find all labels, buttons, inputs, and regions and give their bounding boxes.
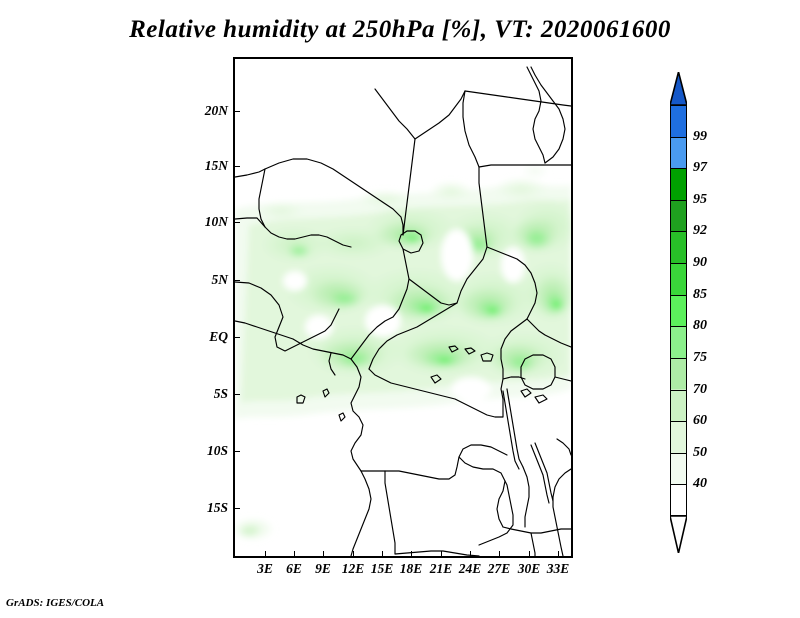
colorbar-band-divider (670, 358, 687, 359)
lon-label-24E: 24E (459, 561, 482, 577)
colorbar-band-divider (670, 390, 687, 391)
lon-label-21E: 21E (430, 561, 453, 577)
colorbar-band (670, 358, 687, 390)
lon-label-15E: 15E (371, 561, 394, 577)
lon-label-18E: 18E (400, 561, 423, 577)
map-canvas (235, 59, 571, 556)
colorbar-band (670, 453, 687, 485)
lon-tick-21E (441, 551, 442, 558)
colorbar-tick-label: 92 (693, 223, 707, 239)
lon-label-30E: 30E (518, 561, 541, 577)
colorbar-band-divider (670, 200, 687, 201)
lat-tick-20N (233, 111, 240, 112)
lat-label-10S: 10S (195, 443, 228, 459)
colorbar-band (670, 137, 687, 169)
colorbar-tick-label: 99 (693, 129, 707, 145)
lat-label-20N: 20N (195, 103, 228, 119)
figure-root: Relative humidity at 250hPa [%], VT: 202… (0, 0, 800, 618)
lat-tick-5S (233, 394, 240, 395)
colorbar-band (670, 168, 687, 200)
colorbar-band (670, 421, 687, 453)
map-clip (235, 59, 571, 556)
lon-tick-30E (529, 551, 530, 558)
lon-label-27E: 27E (488, 561, 511, 577)
colorbar-band-divider (670, 326, 687, 327)
lon-tick-24E (470, 551, 471, 558)
lat-tick-5N (233, 280, 240, 281)
colorbar-tick-label: 80 (693, 318, 707, 334)
colorbar-tick-label: 40 (693, 476, 707, 492)
colorbar-band (670, 484, 687, 516)
lon-label-6E: 6E (286, 561, 302, 577)
lat-label-5N: 5N (195, 272, 228, 288)
lon-tick-12E (353, 551, 354, 558)
lon-tick-15E (382, 551, 383, 558)
lon-label-3E: 3E (257, 561, 273, 577)
over-arrow-shape (670, 72, 687, 105)
colorbar-tick-label: 60 (693, 413, 707, 429)
colorbar-band-divider (670, 421, 687, 422)
colorbar-band-divider (670, 295, 687, 296)
lat-tick-15N (233, 166, 240, 167)
colorbar-band (670, 231, 687, 263)
colorbar-under-arrow (670, 516, 687, 553)
colorbar-tick-label: 75 (693, 350, 707, 366)
colorbar-band (670, 326, 687, 358)
lon-tick-9E (323, 551, 324, 558)
colorbar-tick-label: 70 (693, 382, 707, 398)
lat-tick-EQ (233, 337, 240, 338)
lon-tick-3E (265, 551, 266, 558)
lon-tick-18E (411, 551, 412, 558)
colorbar-band-divider (670, 168, 687, 169)
colorbar-band-divider (670, 263, 687, 264)
colorbar-band (670, 105, 687, 137)
lat-label-EQ: EQ (195, 329, 228, 345)
colorbar-band (670, 295, 687, 327)
map-plot-area (233, 57, 573, 558)
chart-title: Relative humidity at 250hPa [%], VT: 202… (0, 16, 800, 44)
humidity-shading-layer (235, 163, 571, 541)
colorbar-tick-label: 90 (693, 255, 707, 271)
colorbar[interactable] (670, 105, 687, 516)
colorbar-band (670, 389, 687, 421)
colorbar-band-divider (670, 137, 687, 138)
lon-label-33E: 33E (547, 561, 570, 577)
colorbar-tick-label: 95 (693, 192, 707, 208)
colorbar-band-divider (670, 453, 687, 454)
lon-tick-6E (294, 551, 295, 558)
colorbar-tick-label: 97 (693, 160, 707, 176)
lat-tick-15S (233, 508, 240, 509)
colorbar-band-divider (670, 484, 687, 485)
lon-label-12E: 12E (342, 561, 365, 577)
lat-label-15N: 15N (195, 158, 228, 174)
colorbar-band (670, 263, 687, 295)
lon-label-9E: 9E (315, 561, 331, 577)
under-arrow-shape (670, 516, 687, 553)
colorbar-band-divider (670, 231, 687, 232)
lat-label-15S: 15S (195, 500, 228, 516)
colorbar-band (670, 200, 687, 232)
lon-tick-33E (558, 551, 559, 558)
colorbar-over-arrow (670, 72, 687, 105)
lat-tick-10N (233, 222, 240, 223)
lon-tick-27E (499, 551, 500, 558)
lat-label-10N: 10N (195, 214, 228, 230)
lat-tick-10S (233, 451, 240, 452)
colorbar-tick-label: 85 (693, 287, 707, 303)
lat-label-5S: 5S (195, 386, 228, 402)
colorbar-tick-label: 50 (693, 445, 707, 461)
credit-text: GrADS: IGES/COLA (6, 597, 104, 609)
